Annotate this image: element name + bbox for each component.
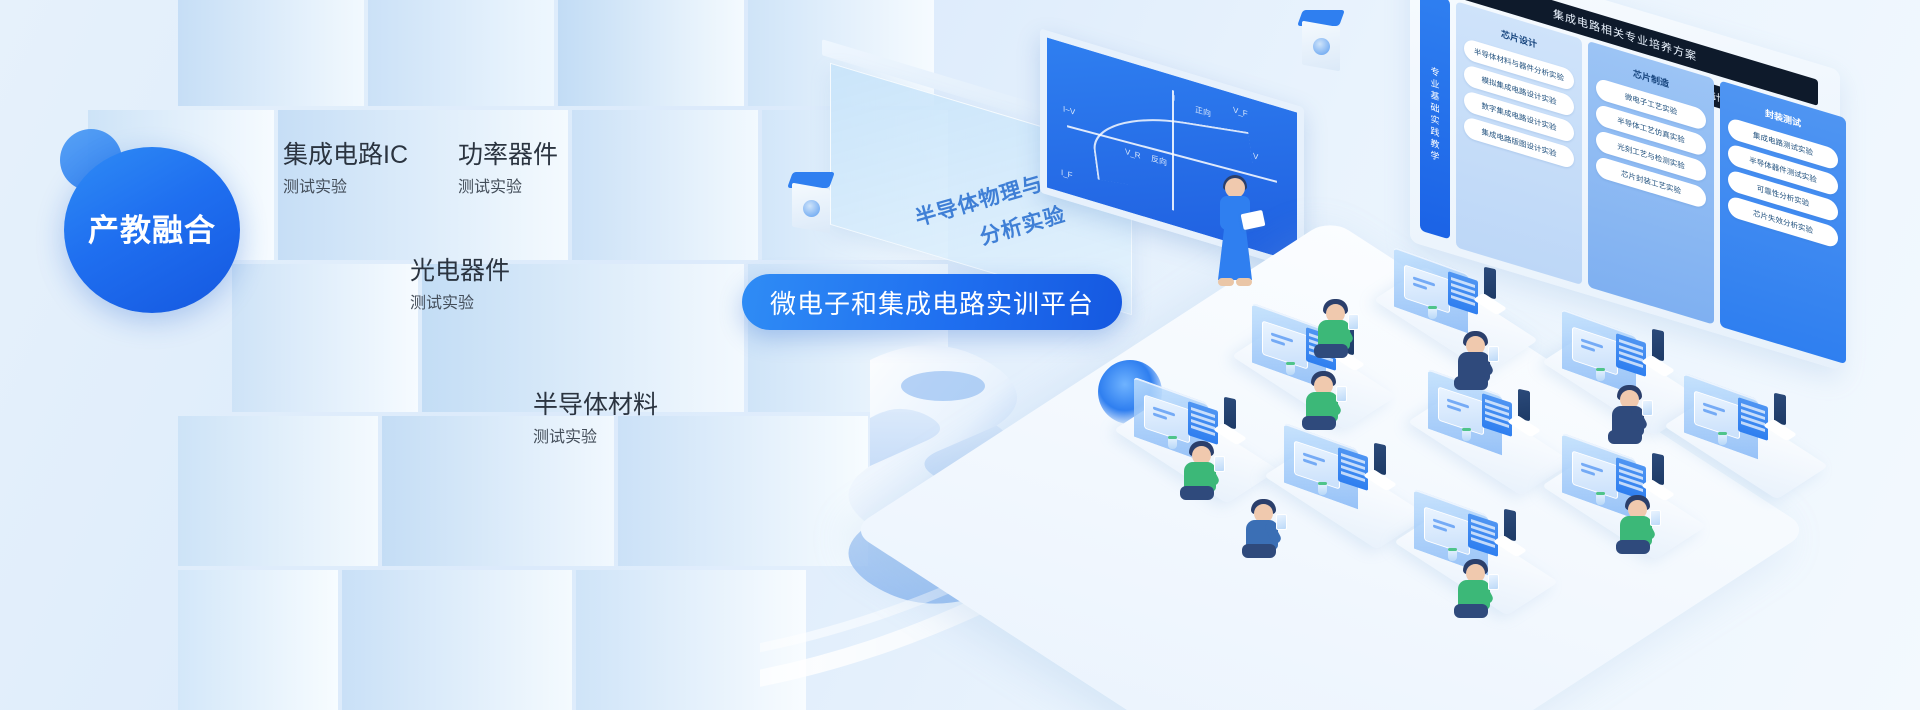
phone-icon bbox=[1214, 456, 1225, 472]
camera-icon bbox=[1300, 10, 1342, 68]
topic-subtitle: 测试实验 bbox=[458, 178, 558, 198]
screen-label-v: V bbox=[1253, 151, 1258, 162]
student-figure bbox=[1450, 556, 1504, 622]
phone-icon bbox=[1348, 314, 1359, 330]
bg-tile bbox=[558, 0, 744, 106]
student-figure bbox=[1310, 296, 1364, 362]
illustration-scene: 半导体物理与器件 分析实验 I~V I V 正向 反向 V_F V_R I_F … bbox=[980, 0, 1920, 710]
phone-icon bbox=[1488, 574, 1499, 590]
phone-icon bbox=[1336, 386, 1347, 402]
screen-label-forward: 正向 bbox=[1195, 104, 1211, 120]
bg-tile bbox=[576, 570, 806, 710]
banner-root: 产教融合 集成电路IC 测试实验 功率器件 测试实验 光电器件 测试实验 半导体… bbox=[0, 0, 1920, 710]
phone-icon bbox=[1642, 400, 1653, 416]
phone-icon bbox=[1488, 346, 1499, 362]
bg-tile bbox=[572, 110, 758, 260]
topic-subtitle: 测试实验 bbox=[533, 428, 658, 448]
bg-tile bbox=[178, 0, 364, 106]
board-column-packaging-test: 封装测试 集成电路测试实验 半导体器件测试实验 可靠性分析实验 芯片失效分析实验 bbox=[1720, 81, 1846, 365]
phone-icon bbox=[1276, 514, 1287, 530]
badge: 产教融合 bbox=[52, 125, 252, 315]
board-column-chip-design: 芯片设计 半导体材料与器件分析实验 模拟集成电路设计实验 数字集成电路设计实验 … bbox=[1456, 1, 1582, 285]
topic-title: 集成电路IC bbox=[283, 140, 408, 170]
topic-label-power-device: 功率器件 测试实验 bbox=[458, 140, 558, 198]
bg-tile bbox=[178, 570, 338, 710]
topic-label-semiconductor-material: 半导体材料 测试实验 bbox=[533, 390, 658, 448]
bg-tile bbox=[178, 416, 378, 566]
bg-tile bbox=[342, 570, 572, 710]
topic-label-optoelectronic: 光电器件 测试实验 bbox=[410, 256, 510, 314]
topic-subtitle: 测试实验 bbox=[283, 178, 408, 198]
board-sidebar-label: 专业基础实践教学 bbox=[1429, 65, 1442, 165]
phone-icon bbox=[1650, 510, 1661, 526]
badge-label: 产教融合 bbox=[88, 215, 216, 246]
workstation bbox=[1680, 388, 1830, 492]
workstation bbox=[1424, 384, 1574, 488]
student-figure bbox=[1612, 492, 1666, 558]
topic-label-ic: 集成电路IC 测试实验 bbox=[283, 140, 408, 198]
topic-title: 半导体材料 bbox=[533, 390, 658, 420]
topic-title: 功率器件 bbox=[458, 140, 558, 170]
student-figure bbox=[1298, 368, 1352, 434]
board-sidebar: 专业基础实践教学 bbox=[1420, 0, 1450, 240]
student-figure bbox=[1450, 328, 1504, 394]
teacher-figure bbox=[1212, 178, 1258, 298]
student-figure bbox=[1238, 496, 1292, 562]
platform-title-pill: 微电子和集成电路实训平台 bbox=[742, 274, 1122, 330]
topic-title: 光电器件 bbox=[410, 256, 510, 286]
topic-subtitle: 测试实验 bbox=[410, 294, 510, 314]
badge-circle: 产教融合 bbox=[64, 147, 240, 313]
screen-label-vf: V_F bbox=[1233, 105, 1248, 118]
screen-label-if: I_F bbox=[1061, 168, 1073, 180]
board-column-chip-manufacturing: 芯片制造 微电子工艺实验 半导体工艺仿真实验 光刻工艺与检测实验 芯片封装工艺实… bbox=[1588, 41, 1714, 325]
bg-tile bbox=[368, 0, 554, 106]
workstation bbox=[1280, 438, 1430, 542]
student-figure bbox=[1604, 382, 1658, 448]
bg-tile bbox=[232, 264, 418, 412]
screen-label-i: I bbox=[1173, 93, 1175, 103]
student-figure bbox=[1176, 438, 1230, 504]
screen-label: I~V bbox=[1063, 104, 1075, 117]
platform-title-label: 微电子和集成电路实训平台 bbox=[770, 284, 1094, 321]
camera-icon bbox=[790, 172, 832, 230]
